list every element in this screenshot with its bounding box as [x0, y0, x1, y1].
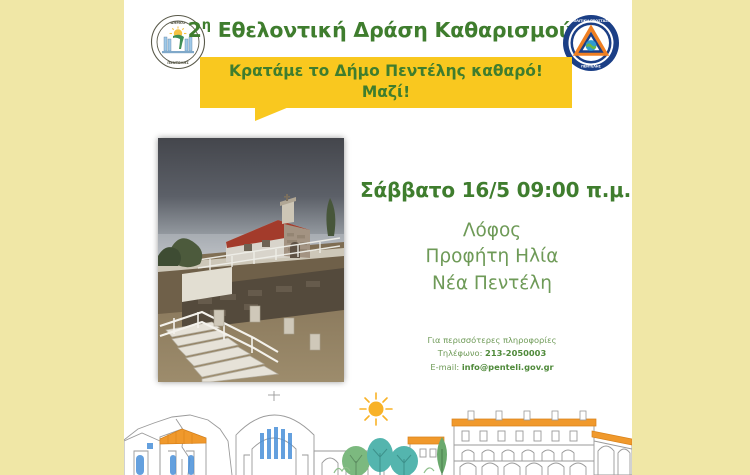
- contact-phone-label: Τηλέφωνο:: [438, 348, 485, 358]
- contact-phone-value[interactable]: 213-2050003: [485, 348, 546, 358]
- title-main: Εθελοντική Δράση Καθαρισμού: [211, 18, 573, 42]
- chapel-photo: [158, 138, 344, 382]
- event-info: Σάββατο 16/5 09:00 π.μ. Λόφος Προφήτη Ηλ…: [360, 178, 624, 297]
- flyer-sheet: ΔΗΜΟΣ ΠΕΝΤΕΛΗΣ 2η Εθελοντική Δράση Καθαρ…: [124, 0, 632, 475]
- contact-email-label: E-mail:: [430, 362, 461, 372]
- seal-text-bottom: ΠΕΝΤΕΛΗΣ: [167, 61, 189, 65]
- contact-info: Για περισσότερες πληροφορίες Τηλέφωνο: 2…: [360, 334, 624, 374]
- background-right-margin: [632, 0, 750, 475]
- event-location: Λόφος Προφήτη Ηλία Νέα Πεντέλη: [360, 218, 624, 297]
- slogan-bubble: Κρατάμε το Δήμο Πεντέλης καθαρό! Μαζί!: [200, 57, 572, 108]
- civil-seal-text-top: ΠΟΛΙΤΙΚΗ ΠΡΟΣΤΑΣΙΑ: [571, 19, 612, 23]
- civil-seal-text-bottom: ΠΕΝΤΕΛΗΣ: [581, 65, 602, 69]
- slogan-bubble-tail: [255, 107, 289, 121]
- contact-email: E-mail: info@penteli.gov.gr: [360, 361, 624, 374]
- event-date: Σάββατο 16/5 09:00 π.μ.: [360, 178, 624, 202]
- slogan-line-1: Κρατάμε το Δήμο Πεντέλης καθαρό!: [200, 62, 572, 80]
- contact-email-value[interactable]: info@penteli.gov.gr: [462, 362, 554, 372]
- contact-phone: Τηλέφωνο: 213-2050003: [360, 347, 624, 360]
- location-line-2: Προφήτη Ηλία: [360, 244, 624, 270]
- skyline-illustration: [124, 389, 632, 475]
- page-title: 2η Εθελοντική Δράση Καθαρισμού: [180, 18, 580, 42]
- location-line-3: Νέα Πεντέλη: [360, 271, 624, 297]
- title-superscript: η: [202, 18, 211, 33]
- contact-intro: Για περισσότερες πληροφορίες: [360, 334, 624, 347]
- location-line-1: Λόφος: [360, 218, 624, 244]
- slogan-line-2: Μαζί!: [200, 83, 572, 101]
- background-left-margin: [0, 0, 124, 475]
- poster-root: ΔΗΜΟΣ ΠΕΝΤΕΛΗΣ 2η Εθελοντική Δράση Καθαρ…: [0, 0, 750, 475]
- title-number: 2: [188, 18, 202, 42]
